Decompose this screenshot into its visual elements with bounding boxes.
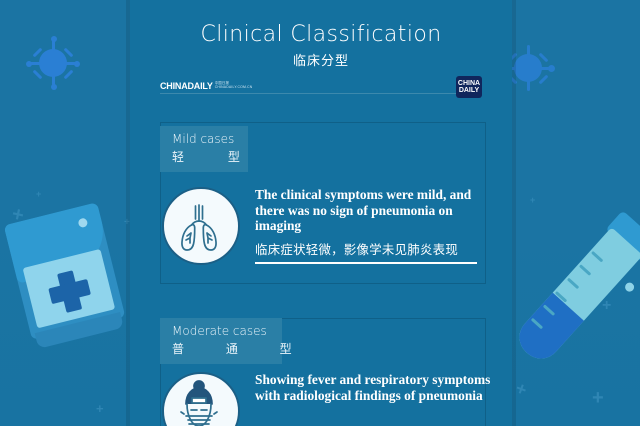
plus-icon: +	[602, 298, 611, 314]
plus-icon: +	[36, 190, 41, 199]
plus-icon: +	[592, 388, 604, 408]
section-tag-moderate: Moderate cases 普 通 型	[160, 318, 282, 364]
section-tag-moderate-cn: 普 通 型	[172, 340, 270, 357]
virus-icon	[30, 40, 76, 86]
section-tag-mild-en: Mild cases	[172, 132, 236, 146]
left-background-band	[0, 0, 130, 426]
chinadaily-badge-line2: DAILY	[459, 87, 479, 94]
brand-bar: CHINADAILY 中国日报 CHINADAILY.COM.CN CHINA …	[160, 79, 482, 97]
section-text-moderate-en: Showing fever and respiratory symptoms w…	[255, 372, 491, 403]
infographic-canvas: + + + + + + + + + + +	[0, 0, 640, 426]
section-text-moderate: Showing fever and respiratory symptoms w…	[255, 372, 491, 403]
plus-icon: +	[44, 328, 52, 342]
page-title: Clinical Classification	[130, 22, 512, 47]
plus-icon: +	[530, 196, 535, 205]
section-content-mild: The clinical symptoms were mild, and the…	[162, 187, 491, 265]
plus-icon: +	[10, 204, 26, 226]
test-tube-icon	[511, 227, 640, 367]
section-tag-mild-cn: 轻 型	[172, 148, 236, 165]
panel-right-edge	[512, 0, 516, 426]
chinadaily-badge: CHINA DAILY	[456, 76, 482, 98]
chinadaily-logo-word: CHINADAILY	[160, 81, 213, 91]
masked-patient-icon	[162, 372, 240, 426]
chinadaily-logo-sub: 中国日报 CHINADAILY.COM.CN	[215, 82, 253, 89]
plus-icon: +	[628, 240, 634, 251]
first-aid-kit-icon	[4, 202, 129, 351]
section-text-mild: The clinical symptoms were mild, and the…	[255, 187, 491, 264]
chinadaily-logo-sub-line2: CHINADAILY.COM.CN	[215, 86, 253, 90]
chinadaily-logo: CHINADAILY 中国日报 CHINADAILY.COM.CN	[160, 81, 252, 91]
plus-icon: +	[96, 402, 104, 415]
page-title-cn: 临床分型	[130, 50, 512, 69]
section-content-moderate: Showing fever and respiratory symptoms w…	[162, 372, 491, 426]
section-tag-moderate-en: Moderate cases	[172, 324, 270, 338]
section-tag-mild: Mild cases 轻 型	[160, 126, 248, 172]
brand-divider	[160, 93, 482, 94]
section-text-underline	[255, 262, 477, 264]
section-text-mild-en: The clinical symptoms were mild, and the…	[255, 187, 491, 234]
page-header: Clinical Classification 临床分型	[130, 0, 512, 69]
chinadaily-badge-line1: CHINA	[458, 80, 480, 87]
section-text-mild-cn: 临床症状轻微，影像学未见肺炎表现	[255, 240, 491, 258]
plus-icon: +	[16, 243, 22, 254]
right-background-band	[510, 0, 640, 426]
lungs-icon	[162, 187, 240, 265]
